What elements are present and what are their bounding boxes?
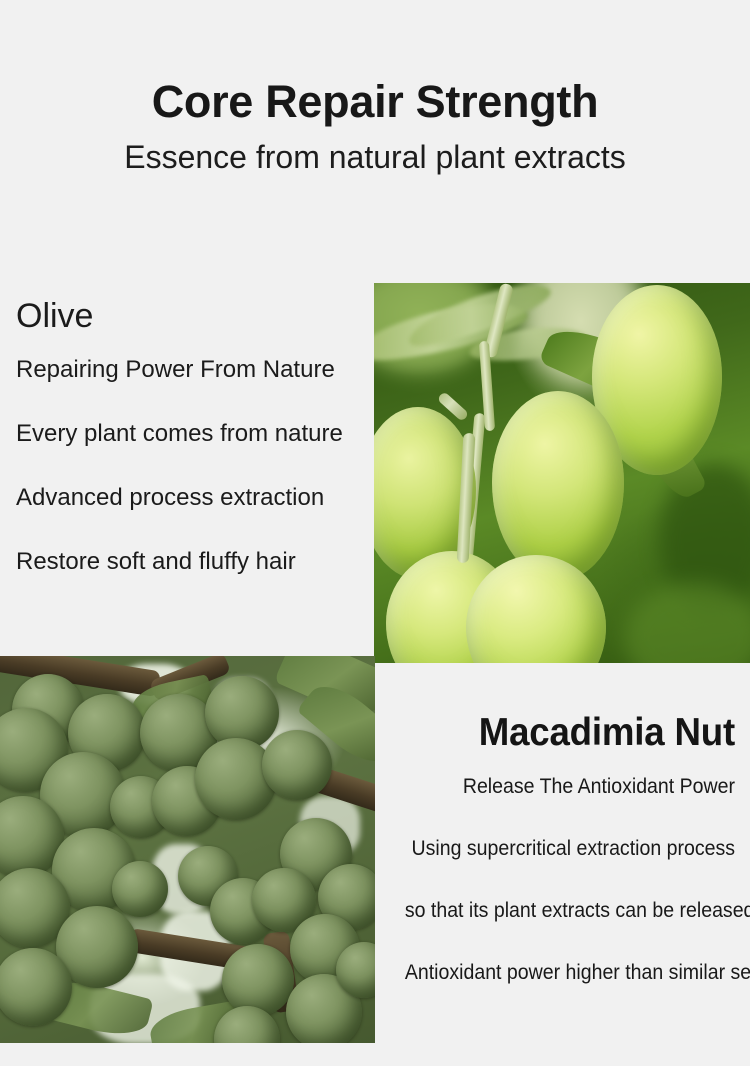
macadamia-line: Release The Antioxidant Power [405,775,735,799]
olive-line: Repairing Power From Nature [16,357,366,384]
macadamia-line: Antioxidant power higher than similar se… [405,961,735,985]
macadamia-nut [112,861,168,917]
header: Core Repair Strength Essence from natura… [0,0,750,250]
page-title: Core Repair Strength [0,78,750,125]
macadamia-text-block: Macadimia Nut Release The Antioxidant Po… [380,712,735,985]
macadamia-heading: Macadimia Nut [401,712,735,755]
olive-text-block: Olive Repairing Power From Nature Every … [16,298,366,576]
macadamia-nut [262,730,332,800]
macadamia-line: Using supercritical extraction process [405,837,735,861]
infographic-page: Core Repair Strength Essence from natura… [0,0,750,1066]
olive-line: Advanced process extraction [16,485,366,512]
olive-fruit [492,391,624,581]
olive-line: Restore soft and fluffy hair [16,549,366,576]
olive-line: Every plant comes from nature [16,421,366,448]
page-subtitle: Essence from natural plant extracts [0,139,750,176]
olive-heading: Olive [16,298,366,335]
olive-photo [374,283,750,663]
macadamia-nut [222,944,294,1016]
macadamia-line: so that its plant extracts can be releas… [405,899,735,923]
macadamia-photo [0,656,375,1043]
